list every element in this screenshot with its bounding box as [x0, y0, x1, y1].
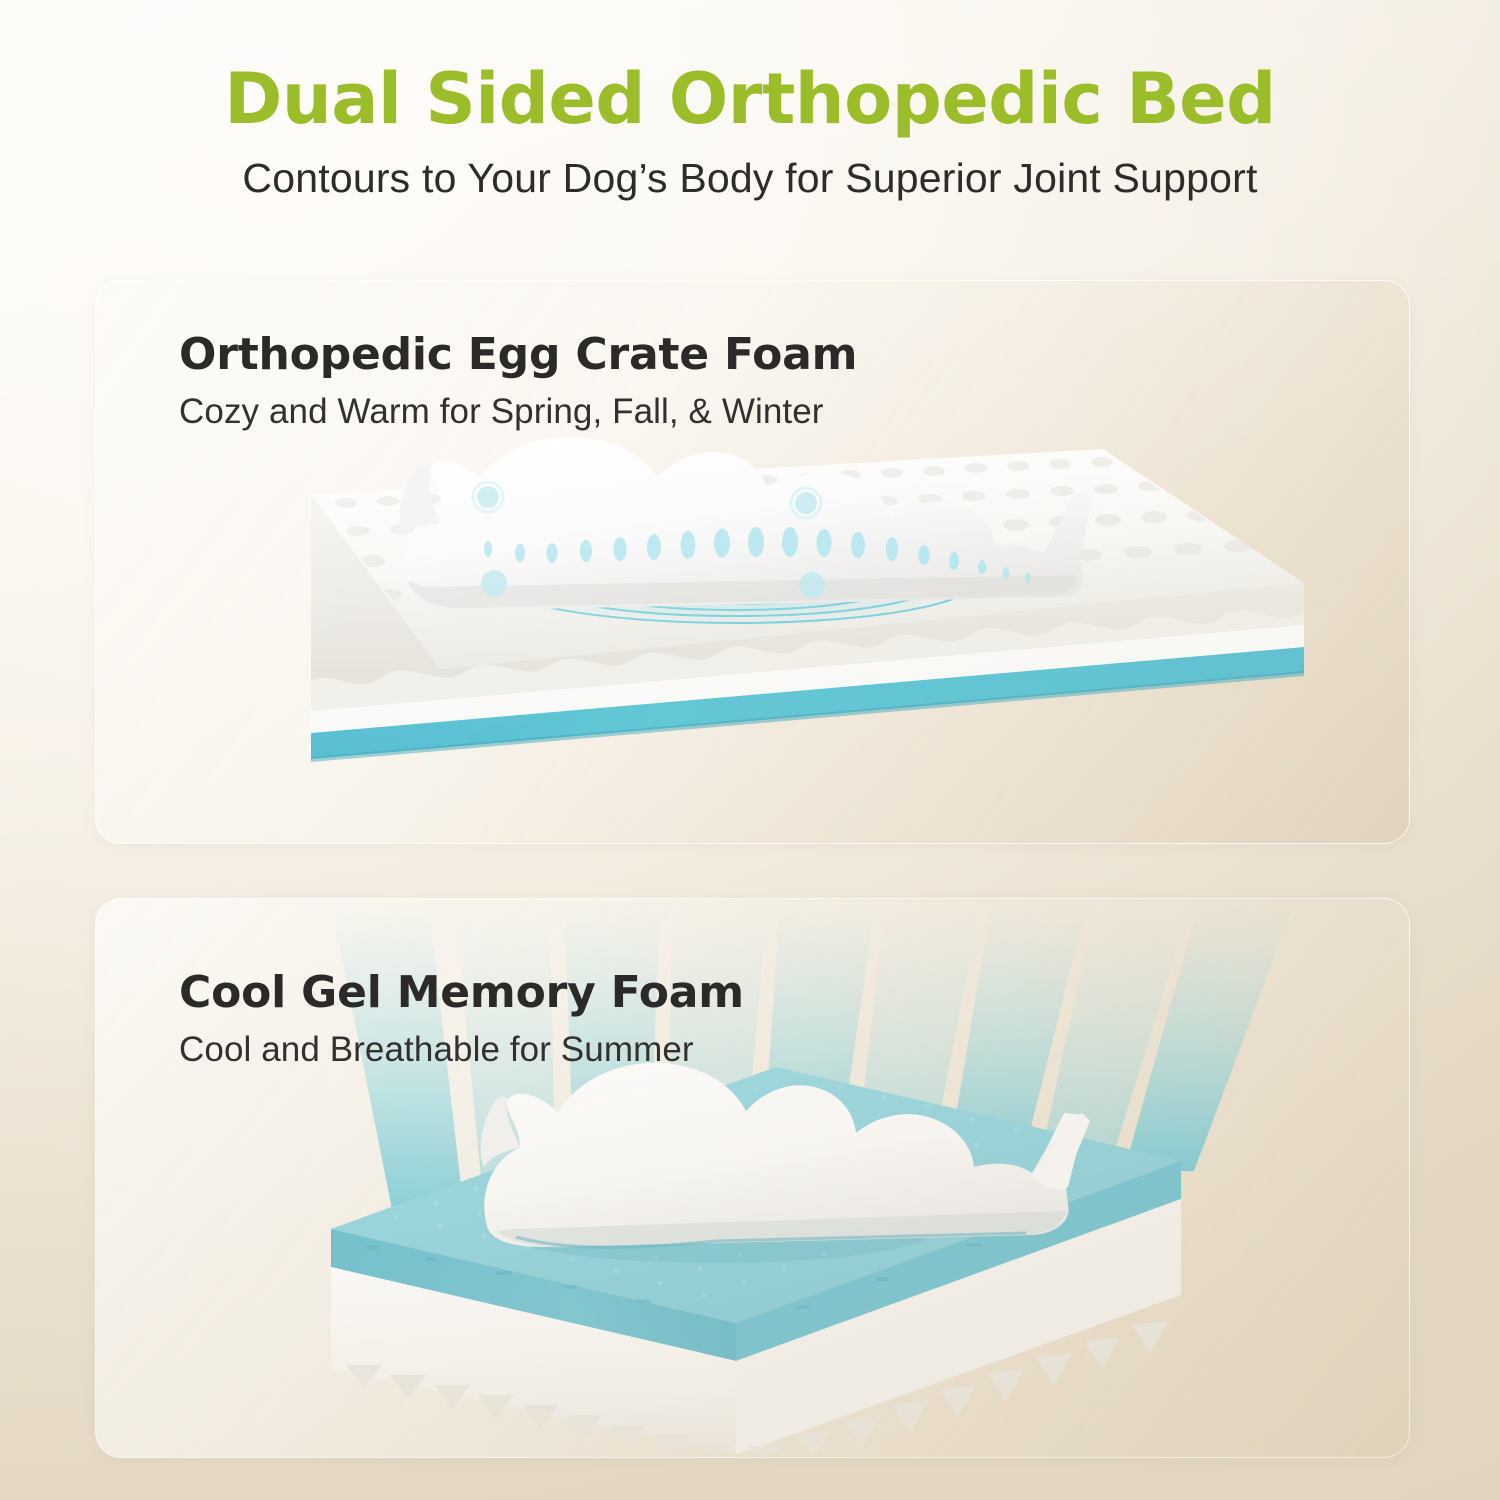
feature-card-egg-crate: Orthopedic Egg Crate Foam Cozy and Warm … [95, 280, 1410, 844]
card-header-cool-gel: Cool Gel Memory Foam Cool and Breathable… [179, 969, 744, 1069]
page-title: Dual Sided Orthopedic Bed [0, 62, 1500, 138]
poster-canvas: Dual Sided Orthopedic Bed Contours to Yo… [0, 0, 1500, 1500]
card-title-egg-crate: Orthopedic Egg Crate Foam [179, 331, 857, 379]
card-subtitle-egg-crate: Cozy and Warm for Spring, Fall, & Winter [179, 393, 857, 432]
card-title-cool-gel: Cool Gel Memory Foam [179, 969, 744, 1017]
page-subtitle: Contours to Your Dog’s Body for Superior… [0, 156, 1500, 201]
card-subtitle-cool-gel: Cool and Breathable for Summer [179, 1031, 744, 1070]
poster-header: Dual Sided Orthopedic Bed Contours to Yo… [0, 62, 1500, 201]
feature-card-cool-gel: Cool Gel Memory Foam Cool and Breathable… [95, 898, 1410, 1458]
card-header-egg-crate: Orthopedic Egg Crate Foam Cozy and Warm … [179, 331, 857, 431]
